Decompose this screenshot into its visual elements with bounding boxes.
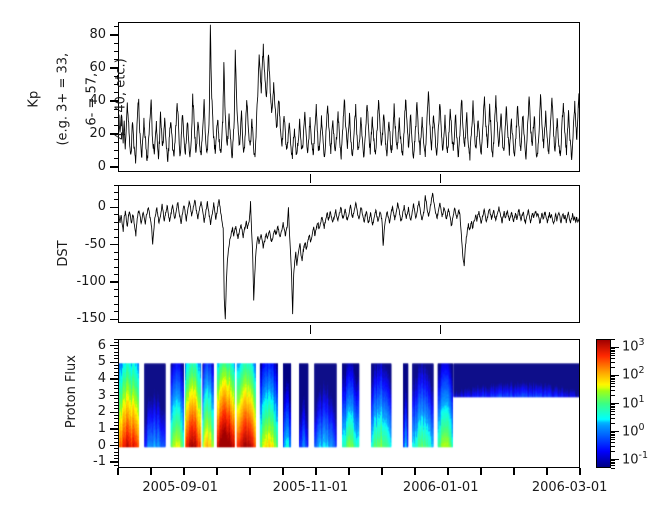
y-minor-tick: [114, 358, 118, 359]
kp-plot-panel: [118, 22, 580, 172]
colorbar-minor-tick: [611, 462, 615, 463]
x-tick-label: 2006-01-01: [391, 480, 491, 495]
y-minor-tick: [114, 398, 118, 399]
colorbar-minor-tick: [611, 376, 615, 377]
y-tick-label: 0: [40, 438, 106, 453]
y-minor-tick: [114, 368, 118, 369]
x-minor-tick: [216, 468, 217, 475]
colorbar-minor-tick: [611, 355, 615, 356]
y-tick-label: 0: [40, 159, 106, 174]
colorbar-minor-tick: [611, 379, 615, 380]
kp-series-svg: [119, 23, 580, 172]
y-minor-tick: [114, 392, 118, 393]
y-minor-tick: [114, 51, 118, 52]
x-minor-tick: [480, 468, 481, 475]
y-minor-tick: [114, 252, 118, 253]
y-minor-tick: [114, 296, 118, 297]
y-minor-tick: [114, 438, 118, 439]
y-minor-tick: [114, 402, 118, 403]
colorbar-minor-tick: [611, 434, 615, 435]
y-minor-tick: [114, 432, 118, 433]
colorbar-minor-tick: [611, 418, 615, 419]
x-tick-label: 2006-03-01: [520, 480, 620, 495]
x-minor-tick: [117, 468, 118, 475]
y-minor-tick: [114, 311, 118, 312]
x-minor-tick: [183, 468, 184, 475]
y-minor-tick: [114, 388, 118, 389]
proton-flux-plot-panel: [118, 339, 580, 468]
colorbar-minor-tick: [611, 409, 615, 410]
colorbar-minor-tick: [611, 414, 615, 415]
x-minor-tick: [348, 468, 349, 475]
colorbar-minor-tick: [611, 339, 615, 340]
y-minor-tick: [114, 418, 118, 419]
colorbar-major-tick: [611, 375, 619, 376]
y-major-tick: [110, 133, 118, 134]
y-minor-tick: [114, 229, 118, 230]
y-minor-tick: [114, 43, 118, 44]
y-minor-tick: [114, 339, 118, 340]
y-minor-tick: [114, 465, 118, 466]
colorbar-minor-tick: [611, 451, 615, 452]
x-tick-label: 2005-11-01: [260, 480, 360, 495]
colorbar-minor-tick: [611, 442, 615, 443]
colorbar-minor-tick: [611, 423, 615, 424]
y-minor-tick: [114, 289, 118, 290]
y-minor-tick: [114, 158, 118, 159]
y-major-tick: [110, 166, 118, 167]
colorbar-minor-tick: [611, 351, 615, 352]
colorbar-major-tick: [611, 403, 619, 404]
y-major-tick: [110, 207, 118, 208]
y-minor-tick: [114, 92, 118, 93]
colorbar-minor-tick: [611, 395, 615, 396]
y-major-tick: [110, 412, 118, 413]
y-minor-tick: [114, 214, 118, 215]
y-tick-label: -50: [40, 237, 106, 252]
colorbar-minor-tick: [611, 358, 615, 359]
colorbar-tick-label: 101: [622, 394, 645, 411]
x-interpanel-tick: [310, 174, 311, 183]
colorbar-minor-tick: [611, 378, 615, 379]
y-minor-tick: [114, 109, 118, 110]
colorbar-tick-label: 103: [622, 337, 645, 354]
y-tick-label: 2: [40, 404, 106, 419]
y-major-tick: [110, 281, 118, 282]
colorbar-minor-tick: [611, 463, 615, 464]
colorbar-minor-tick: [611, 468, 615, 469]
x-minor-tick: [381, 468, 382, 475]
y-minor-tick: [114, 415, 118, 416]
y-minor-tick: [114, 382, 118, 383]
y-major-tick: [110, 395, 118, 396]
x-minor-tick: [150, 468, 151, 475]
y-major-tick: [110, 319, 118, 320]
y-major-tick: [110, 362, 118, 363]
y-minor-tick: [114, 117, 118, 118]
colorbar-minor-tick: [611, 353, 615, 354]
y-minor-tick: [114, 76, 118, 77]
colorbar-minor-tick: [611, 406, 615, 407]
x-interpanel-tick: [440, 174, 441, 183]
y-tick-label: 6: [40, 338, 106, 353]
x-minor-tick: [513, 468, 514, 475]
y-tick-label: 20: [40, 126, 106, 141]
colorbar-minor-tick: [611, 439, 615, 440]
y-minor-tick: [114, 422, 118, 423]
dst-series-svg: [119, 186, 580, 323]
colorbar-minor-tick: [611, 350, 615, 351]
y-minor-tick: [114, 342, 118, 343]
dst-plot-panel: [118, 185, 580, 323]
y-minor-tick: [114, 304, 118, 305]
x-minor-tick: [414, 468, 415, 475]
colorbar-minor-tick: [611, 432, 615, 433]
y-tick-label: -1: [40, 454, 106, 469]
y-minor-tick: [114, 372, 118, 373]
x-minor-tick: [447, 468, 448, 475]
y-tick-label: 4: [40, 371, 106, 386]
y-minor-tick: [114, 259, 118, 260]
x-minor-tick: [282, 468, 283, 475]
colorbar-minor-tick: [611, 383, 615, 384]
colorbar-tick-label: 100: [622, 422, 645, 439]
kp-ylabel-line-1: Kp: [26, 91, 41, 108]
y-minor-tick: [114, 435, 118, 436]
colorbar-minor-tick: [611, 465, 615, 466]
y-major-tick: [110, 100, 118, 101]
colorbar: [596, 339, 611, 468]
y-minor-tick: [114, 142, 118, 143]
y-minor-tick: [114, 348, 118, 349]
x-tick-label: 2005-09-01: [130, 480, 230, 495]
y-minor-tick: [114, 125, 118, 126]
y-minor-tick: [114, 385, 118, 386]
y-minor-tick: [114, 274, 118, 275]
y-minor-tick: [114, 84, 118, 85]
y-minor-tick: [114, 375, 118, 376]
y-minor-tick: [114, 455, 118, 456]
colorbar-minor-tick: [611, 348, 615, 349]
colorbar-tick-label: 102: [622, 365, 645, 382]
colorbar-minor-tick: [611, 446, 615, 447]
y-major-tick: [110, 345, 118, 346]
y-major-tick: [110, 34, 118, 35]
colorbar-major-tick: [611, 459, 619, 460]
x-minor-tick: [579, 468, 580, 475]
y-minor-tick: [114, 59, 118, 60]
colorbar-major-tick: [611, 431, 619, 432]
y-minor-tick: [114, 199, 118, 200]
colorbar-minor-tick: [611, 362, 615, 363]
y-minor-tick: [114, 405, 118, 406]
y-major-tick: [110, 445, 118, 446]
colorbar-minor-tick: [611, 460, 615, 461]
y-minor-tick: [114, 425, 118, 426]
y-minor-tick: [114, 267, 118, 268]
colorbar-minor-tick: [611, 390, 615, 391]
figure-root: Kp (e.g. 3+ = 33, 6- = 57, 4 = 40, etc.)…: [0, 0, 665, 523]
y-minor-tick: [114, 222, 118, 223]
kp-ylabel-line-4: 4 = 40, etc.): [113, 58, 128, 140]
colorbar-tick-label: 10-1: [622, 450, 648, 467]
y-minor-tick: [114, 442, 118, 443]
y-major-tick: [110, 67, 118, 68]
colorbar-major-tick: [611, 347, 619, 348]
y-tick-label: 40: [40, 93, 106, 108]
x-interpanel-tick: [310, 325, 311, 334]
colorbar-minor-tick: [611, 386, 615, 387]
x-minor-tick: [315, 468, 316, 475]
colorbar-minor-tick: [611, 404, 615, 405]
y-minor-tick: [114, 352, 118, 353]
colorbar-minor-tick: [611, 367, 615, 368]
y-tick-label: 80: [40, 27, 106, 42]
y-minor-tick: [114, 185, 118, 186]
y-tick-label: 0: [40, 199, 106, 214]
colorbar-minor-tick: [611, 407, 615, 408]
y-minor-tick: [114, 237, 118, 238]
series-line: [119, 193, 580, 319]
y-minor-tick: [114, 355, 118, 356]
y-major-tick: [110, 244, 118, 245]
y-minor-tick: [114, 448, 118, 449]
y-minor-tick: [114, 458, 118, 459]
colorbar-minor-tick: [611, 435, 615, 436]
y-minor-tick: [114, 408, 118, 409]
colorbar-minor-tick: [611, 437, 615, 438]
y-minor-tick: [114, 26, 118, 27]
y-major-tick: [110, 428, 118, 429]
y-major-tick: [110, 378, 118, 379]
y-minor-tick: [114, 365, 118, 366]
y-minor-tick: [114, 452, 118, 453]
y-tick-label: 60: [40, 60, 106, 75]
y-tick-label: 1: [40, 421, 106, 436]
colorbar-minor-tick: [611, 411, 615, 412]
colorbar-minor-tick: [611, 381, 615, 382]
proton-flux-heatmap: [119, 340, 580, 468]
x-interpanel-tick: [440, 325, 441, 334]
y-tick-label: -100: [40, 274, 106, 289]
y-tick-label: -150: [40, 311, 106, 326]
y-minor-tick: [114, 150, 118, 151]
y-minor-tick: [114, 192, 118, 193]
y-major-tick: [110, 461, 118, 462]
series-line: [119, 25, 580, 164]
y-tick-label: 3: [40, 388, 106, 403]
x-minor-tick: [546, 468, 547, 475]
y-tick-label: 5: [40, 354, 106, 369]
x-minor-tick: [249, 468, 250, 475]
